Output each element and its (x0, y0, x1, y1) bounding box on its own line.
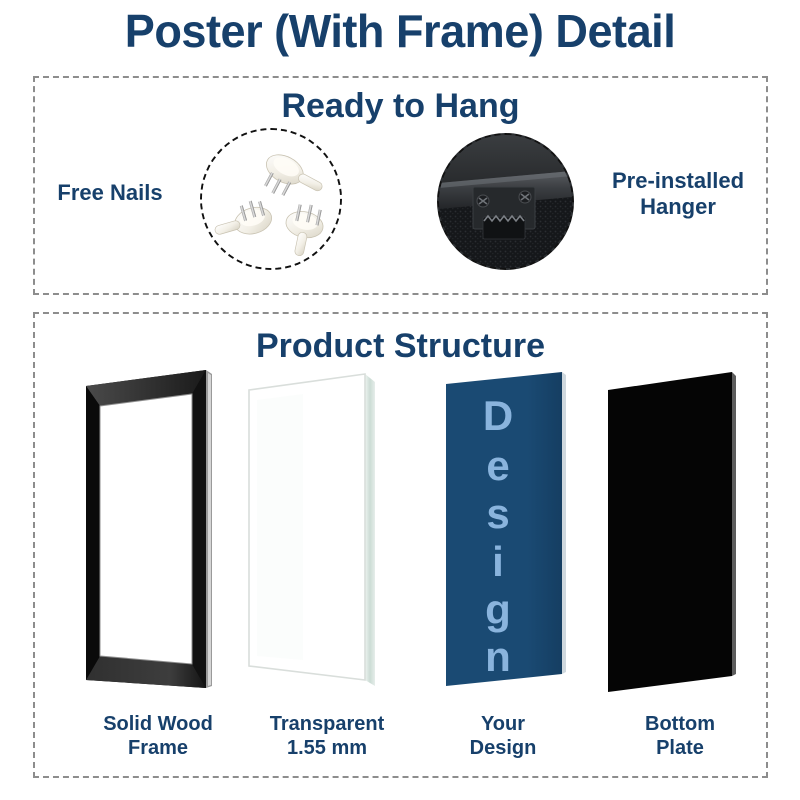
solid-wood-frame-graphic (78, 368, 238, 700)
bottom-plate-caption: Bottom Plate (585, 712, 775, 760)
solid-wood-frame-caption: Solid Wood Frame (63, 712, 253, 760)
pre-installed-hanger-label: Pre-installed Hanger (588, 168, 768, 220)
ready-to-hang-title: Ready to Hang (35, 86, 766, 126)
pre-installed-hanger-photo (437, 133, 574, 270)
svg-text:i: i (492, 538, 504, 585)
poster-detail-page: Poster (With Frame) Detail Ready to Hang… (0, 0, 800, 800)
svg-text:s: s (486, 490, 509, 537)
your-design-caption: Your Design (418, 712, 588, 760)
transparent-sheet-graphic (243, 368, 403, 700)
svg-text:e: e (486, 442, 509, 489)
product-structure-title: Product Structure (35, 326, 766, 366)
page-title: Poster (With Frame) Detail (8, 4, 792, 58)
svg-text:n: n (485, 633, 511, 680)
bottom-plate-graphic (598, 368, 758, 700)
svg-text:D: D (483, 392, 513, 439)
transparent-sheet-caption: Transparent 1.55 mm (232, 712, 422, 760)
design-letters: D e s i g n (483, 392, 513, 680)
your-design-graphic: D e s i g n (440, 368, 600, 700)
svg-text:g: g (485, 586, 511, 633)
free-nails-label: Free Nails (40, 180, 180, 206)
free-nails-photo (200, 128, 342, 270)
